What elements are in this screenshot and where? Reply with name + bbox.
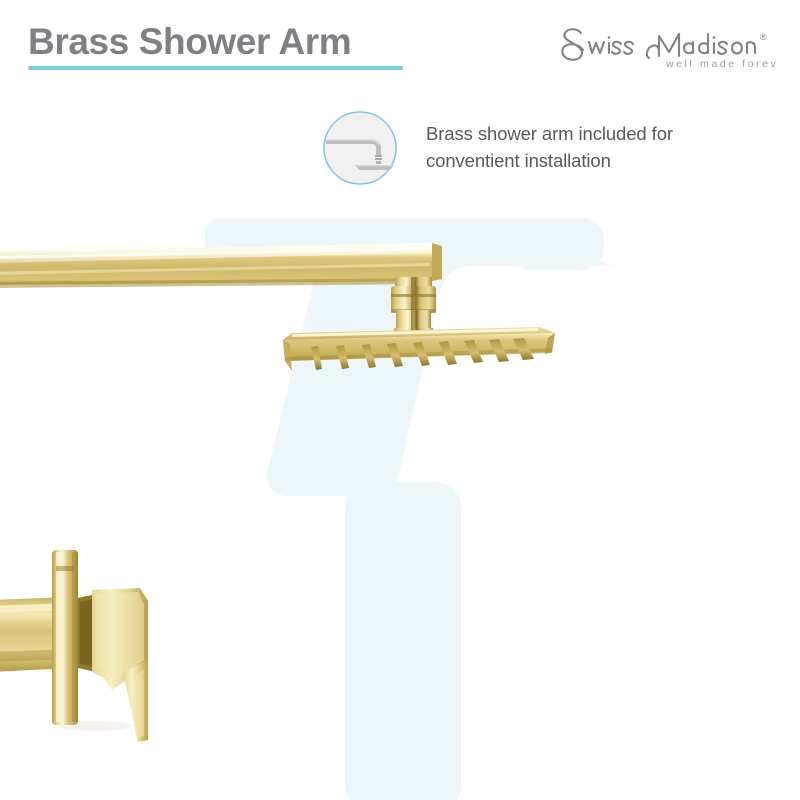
swivel-connector-part [391, 277, 436, 336]
valve-trim-part [0, 550, 148, 742]
shower-head-nozzles [311, 338, 534, 370]
feature-text: Brass shower arm included for conventien… [426, 120, 746, 174]
feature-text-line-2: conventient installation [426, 147, 746, 174]
title-underline-rule [28, 66, 403, 70]
brand-logo: ® well made forever [553, 22, 778, 74]
shower-arm-part [0, 243, 442, 288]
page-title: Brass Shower Arm [28, 20, 351, 64]
shower-arm-icon [322, 110, 398, 186]
feature-callout: Brass shower arm included for conventien… [322, 110, 752, 190]
header: Brass Shower Arm [0, 0, 800, 95]
shower-head-part [283, 327, 555, 371]
registered-trademark-mark: ® [760, 32, 767, 42]
feature-text-line-1: Brass shower arm included for [426, 120, 746, 147]
product-marketing-image: Brass Shower Arm [0, 0, 800, 800]
brand-tagline: well made forever [665, 58, 778, 70]
